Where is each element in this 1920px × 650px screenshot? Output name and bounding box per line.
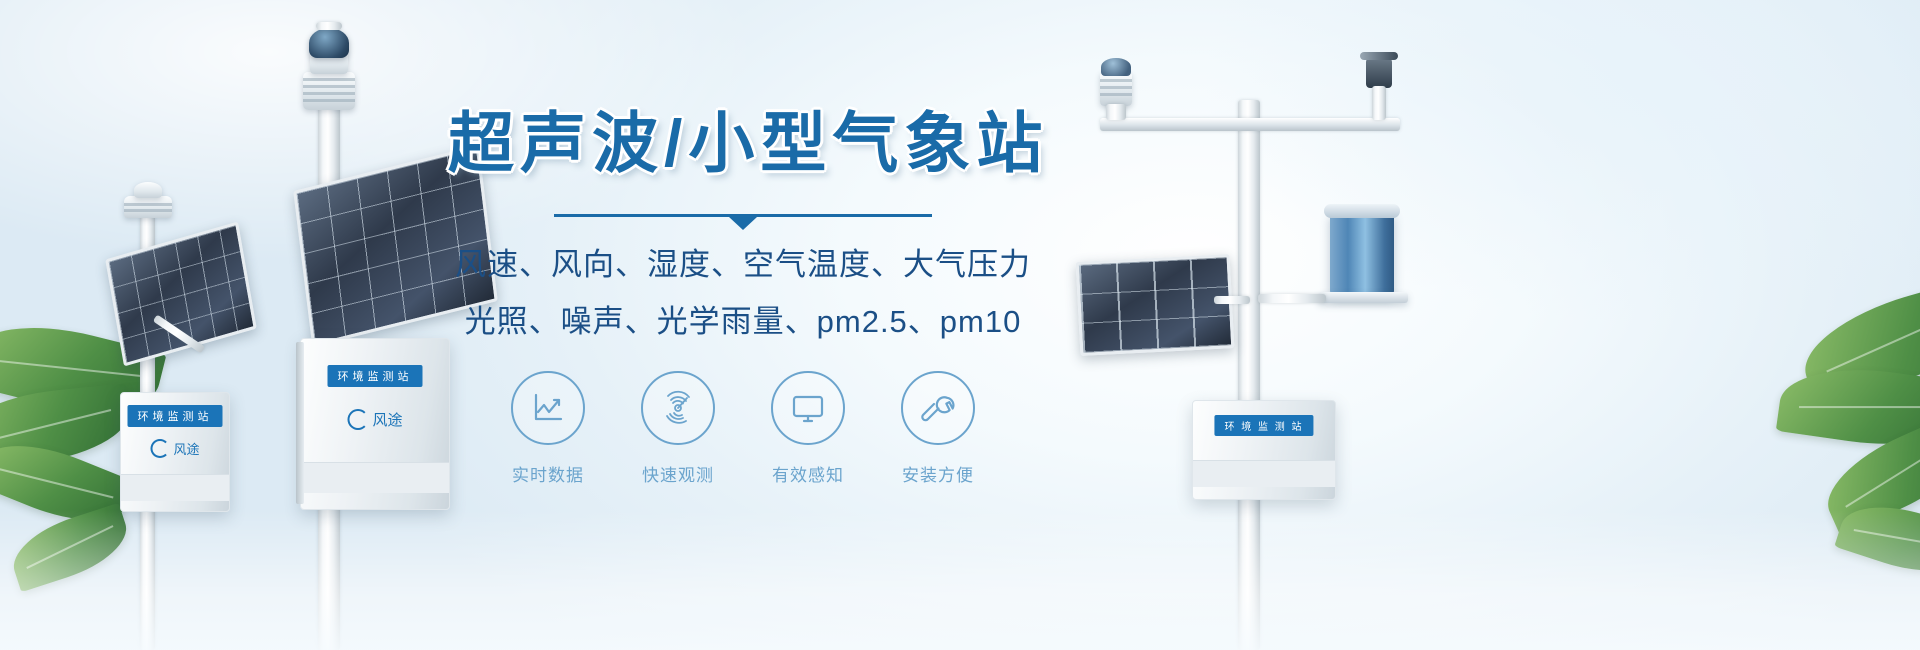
feature-item-fast-observation[interactable]: 快速观测 <box>639 371 717 486</box>
feature-label: 快速观测 <box>642 461 714 486</box>
feature-item-realtime-data[interactable]: 实时数据 <box>509 371 587 486</box>
brand-mark-icon <box>150 439 169 458</box>
anemometer-icon <box>1366 58 1392 88</box>
banner-content: 超声波/小型气象站 风速、风向、湿度、空气温度、大气压力 光照、噪声、光学雨量、… <box>448 110 1038 486</box>
ultrasonic-dome-right-icon <box>1101 58 1131 76</box>
brand-mark-icon <box>347 409 368 430</box>
station-brand-left: 风途 <box>150 439 199 458</box>
wrench-icon <box>901 371 975 445</box>
page-title: 超声波/小型气象站 <box>448 110 1038 176</box>
feature-item-effective-sensing[interactable]: 有效感知 <box>769 371 847 486</box>
monitor-icon <box>771 371 845 445</box>
feature-list: 实时数据 快速观测 <box>448 371 1038 486</box>
rain-gauge-icon <box>1330 212 1394 296</box>
ultrasonic-dome-icon <box>309 28 349 58</box>
feature-label: 有效感知 <box>772 461 844 486</box>
title-divider <box>554 214 932 217</box>
subtitle-line-1: 风速、风向、湿度、空气温度、大气压力 <box>448 239 1038 284</box>
feature-label: 安装方便 <box>902 461 974 486</box>
station-brand-middle: 风途 <box>347 409 402 430</box>
station-label-middle: 环境监测站 <box>328 365 423 387</box>
feature-label: 实时数据 <box>512 461 584 486</box>
ground-fade <box>0 510 1920 650</box>
station-label-left: 环境监测站 <box>128 405 223 427</box>
line-chart-icon <box>511 371 585 445</box>
feature-item-easy-installation[interactable]: 安装方便 <box>899 371 977 486</box>
caret-down-icon <box>729 217 757 230</box>
product-banner: 环境监测站 风途 环境监测站 风途 <box>0 0 1920 650</box>
subtitle-line-2: 光照、噪声、光学雨量、pm2.5、pm10 <box>448 296 1038 341</box>
station-label-right: 环 境 监 测 站 <box>1214 415 1313 436</box>
radar-scan-icon <box>641 371 715 445</box>
